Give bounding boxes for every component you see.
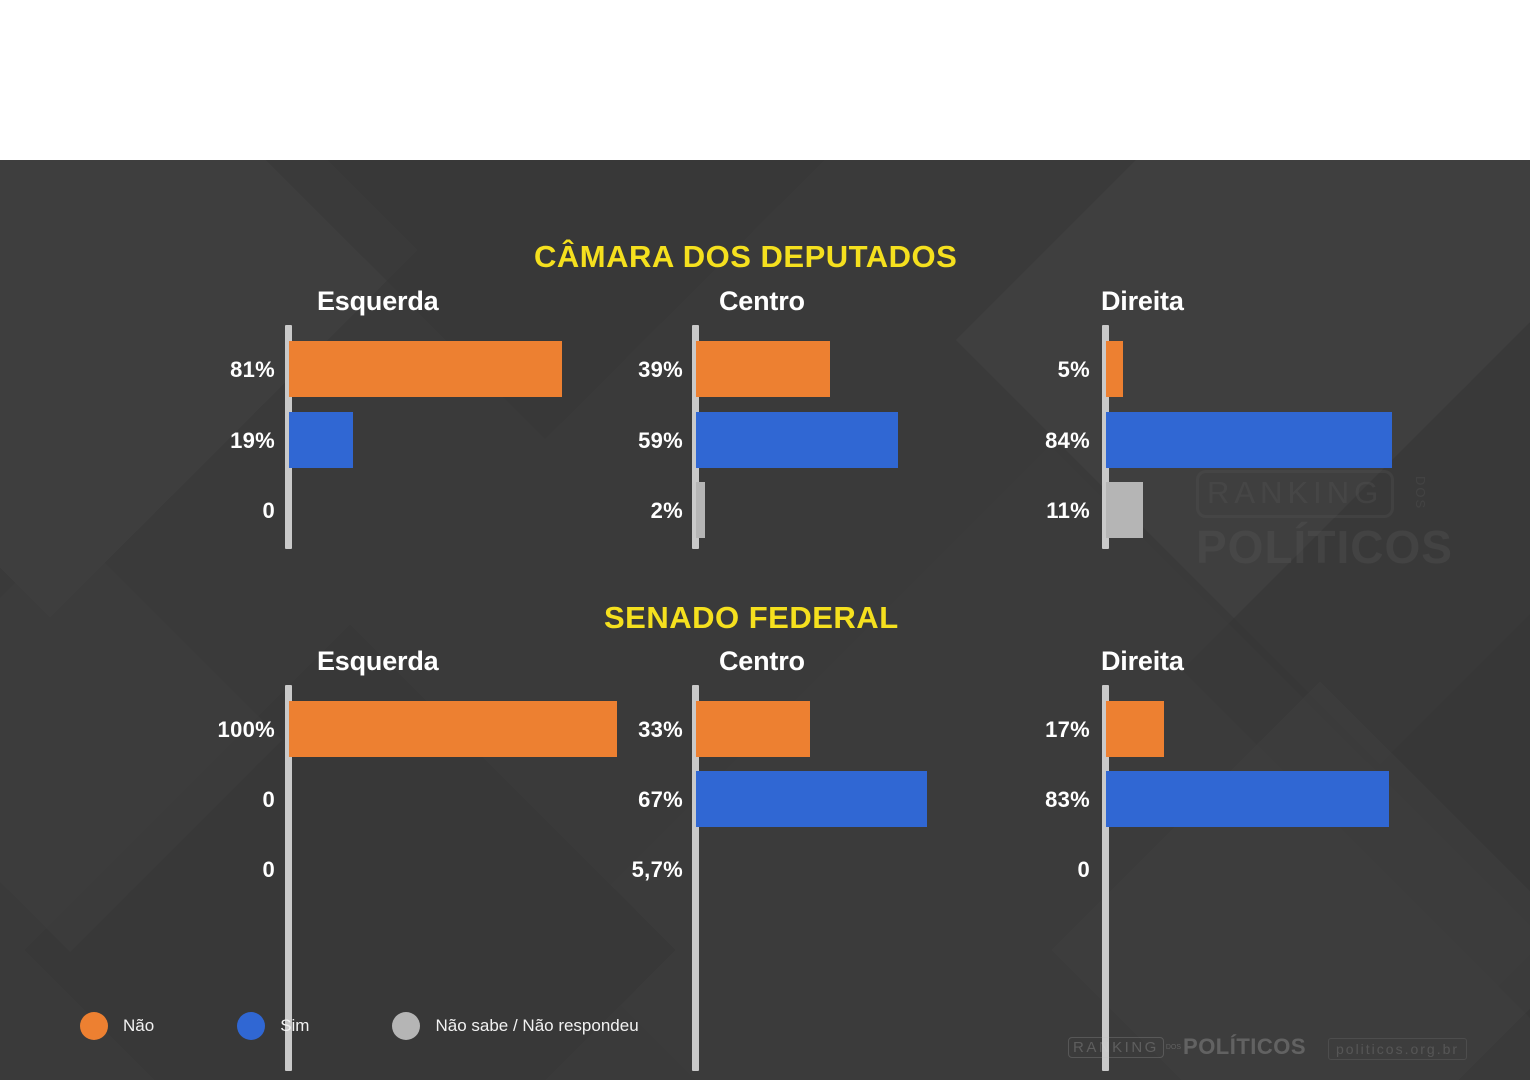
bar-ns (1106, 482, 1143, 538)
circle-icon (392, 1012, 420, 1040)
legend-label: Sim (280, 1016, 309, 1036)
bar-nao (696, 341, 830, 397)
bar-value-sim: 67% (548, 787, 683, 813)
bar-value-ns: 0 (140, 498, 275, 524)
bar-ns (696, 482, 705, 538)
bar-sim (696, 412, 898, 468)
legend-item-sim[interactable]: Sim (237, 1012, 309, 1040)
bar-value-ns: 11% (955, 498, 1090, 524)
bar-value-sim: 84% (955, 428, 1090, 454)
circle-icon (237, 1012, 265, 1040)
footer-ranking-text: RANKING (1068, 1037, 1164, 1058)
bar-value-sim: 0 (140, 787, 275, 813)
chart-legend: Não Sim Não sabe / Não respondeu (80, 1012, 722, 1040)
legend-label: Não sabe / Não respondeu (435, 1016, 638, 1036)
legend-item-nao-sabe[interactable]: Não sabe / Não respondeu (392, 1012, 638, 1040)
bar-value-ns: 0 (140, 857, 275, 883)
legend-item-nao[interactable]: Não (80, 1012, 154, 1040)
circle-icon (80, 1012, 108, 1040)
legend-label: Não (123, 1016, 154, 1036)
bar-nao (696, 701, 810, 757)
group-label: Centro (719, 646, 805, 677)
bar-nao (1106, 701, 1164, 757)
bar-value-sim: 19% (140, 428, 275, 454)
section-title-camara: CÂMARA DOS DEPUTADOS (534, 239, 957, 275)
footer-politicos-text: POLÍTICOS (1183, 1034, 1306, 1060)
bar-value-nao: 17% (955, 717, 1090, 743)
bar-value-ns: 5,7% (548, 857, 683, 883)
bar-value-ns: 0 (955, 857, 1090, 883)
bar-sim (1106, 412, 1392, 468)
group-label: Esquerda (317, 646, 438, 677)
bar-nao (1106, 341, 1123, 397)
bar-nao (289, 341, 562, 397)
bar-value-nao: 100% (140, 717, 275, 743)
group-label: Direita (1101, 646, 1184, 677)
chart-canvas: CÂMARA DOS DEPUTADOS SENADO FEDERAL RANK… (0, 160, 1530, 1080)
bar-value-nao: 33% (548, 717, 683, 743)
bar-value-nao: 39% (548, 357, 683, 383)
footer-ranking-politicos-logo: RANKING DOS POLÍTICOS (1068, 1034, 1306, 1060)
header-band (0, 0, 1530, 160)
bar-value-nao: 5% (955, 357, 1090, 383)
group-label: Direita (1101, 286, 1184, 317)
footer-url-badge: politicos.org.br (1328, 1038, 1467, 1060)
footer-dos-text: DOS (1166, 1044, 1181, 1051)
group-label: Centro (719, 286, 805, 317)
bar-sim (289, 412, 353, 468)
bar-sim (696, 771, 927, 827)
bar-value-ns: 2% (548, 498, 683, 524)
bar-value-sim: 83% (955, 787, 1090, 813)
bar-value-nao: 81% (140, 357, 275, 383)
group-label: Esquerda (317, 286, 438, 317)
bar-value-sim: 59% (548, 428, 683, 454)
bar-sim (1106, 771, 1389, 827)
section-title-senado: SENADO FEDERAL (604, 600, 899, 636)
